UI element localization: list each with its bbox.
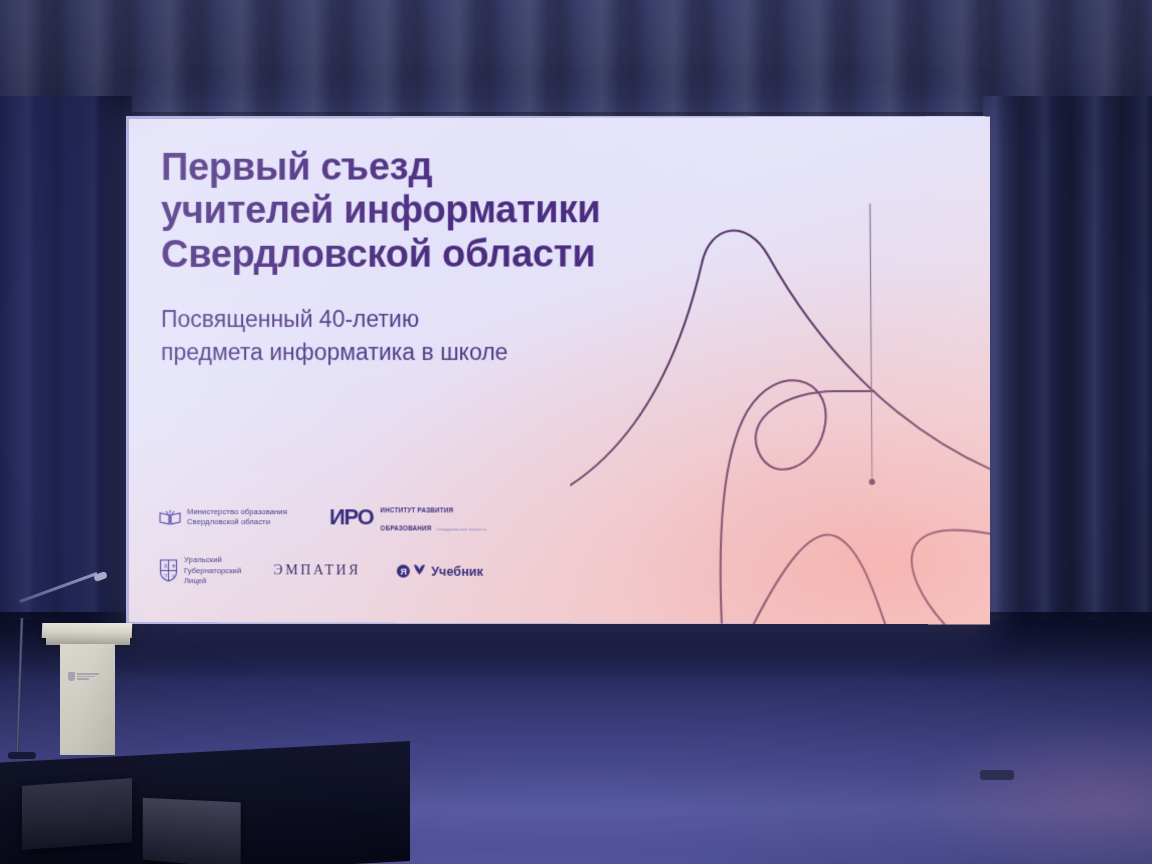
slide-title: Первый съезд учителей информатики Свердл… (161, 145, 765, 277)
podium-shield-icon (68, 672, 75, 681)
curtain-valance (0, 0, 1152, 118)
logo-empathy-wordmark: ЭМПАТИЯ (274, 563, 361, 579)
logo-ministry-of-education: Министерство образования Свердловской об… (159, 507, 287, 528)
logo-yandex-uchebnik: Я Учебник (397, 562, 483, 580)
logo-lyceum-label: Уральский Губернаторский Лицей (184, 555, 241, 586)
shield-crest-icon: 8 ⚜ 7 ✧ (159, 559, 178, 582)
logo-iro: ИРО ИНСТИТУТ РАЗВИТИЯ ОБРАЗОВАНИЯ Свердл… (329, 500, 487, 536)
svg-text:⚜: ⚜ (171, 563, 176, 570)
iro-region-label: Свердловская область (436, 527, 487, 532)
logo-ural-governor-lyceum: 8 ⚜ 7 ✧ Уральский Губернаторский Лицей (159, 555, 241, 586)
svg-text:✧: ✧ (171, 573, 176, 580)
logo-row-primary: Министерство образования Свердловской об… (159, 499, 642, 536)
left-curtain-panel (0, 96, 132, 656)
microphone-stand-base (8, 752, 36, 759)
open-book-emblem-icon (159, 509, 181, 525)
logo-row-secondary: 8 ⚜ 7 ✧ Уральский Губернаторский Лицей Э… (159, 555, 642, 587)
iro-subtext-block: ИНСТИТУТ РАЗВИТИЯ ОБРАЗОВАНИЯ Свердловск… (380, 500, 487, 536)
valance-pleats (0, 0, 1152, 118)
svg-text:7: 7 (164, 574, 167, 580)
iro-wordmark: ИРО (329, 505, 373, 531)
stage-monitor-speaker (143, 798, 241, 864)
stage-monitor-speaker (22, 778, 132, 850)
svg-text:8: 8 (164, 564, 167, 570)
auditorium-stage-photo: Первый съезд учителей информатики Свердл… (0, 0, 1152, 864)
floor-cable-object (980, 770, 1014, 780)
slide-logo-bar: Министерство образования Свердловской об… (159, 499, 642, 587)
logo-ministry-label: Министерство образования Свердловской об… (187, 507, 287, 528)
yandex-ya-badge-icon: Я (397, 565, 410, 578)
yandex-bird-icon (410, 562, 426, 580)
projection-screen: Первый съезд учителей информатики Свердл… (129, 117, 990, 625)
speaker-podium (60, 644, 115, 755)
uchebnik-wordmark: Учебник (431, 564, 483, 578)
podium-logo (68, 672, 99, 681)
stage-floor-warm-glow (822, 700, 1152, 864)
podium-logo-text-lines (77, 673, 99, 679)
slide-subtitle: Посвященный 40-летию предмета информатик… (161, 303, 684, 369)
left-curtain-pleats (0, 96, 132, 656)
